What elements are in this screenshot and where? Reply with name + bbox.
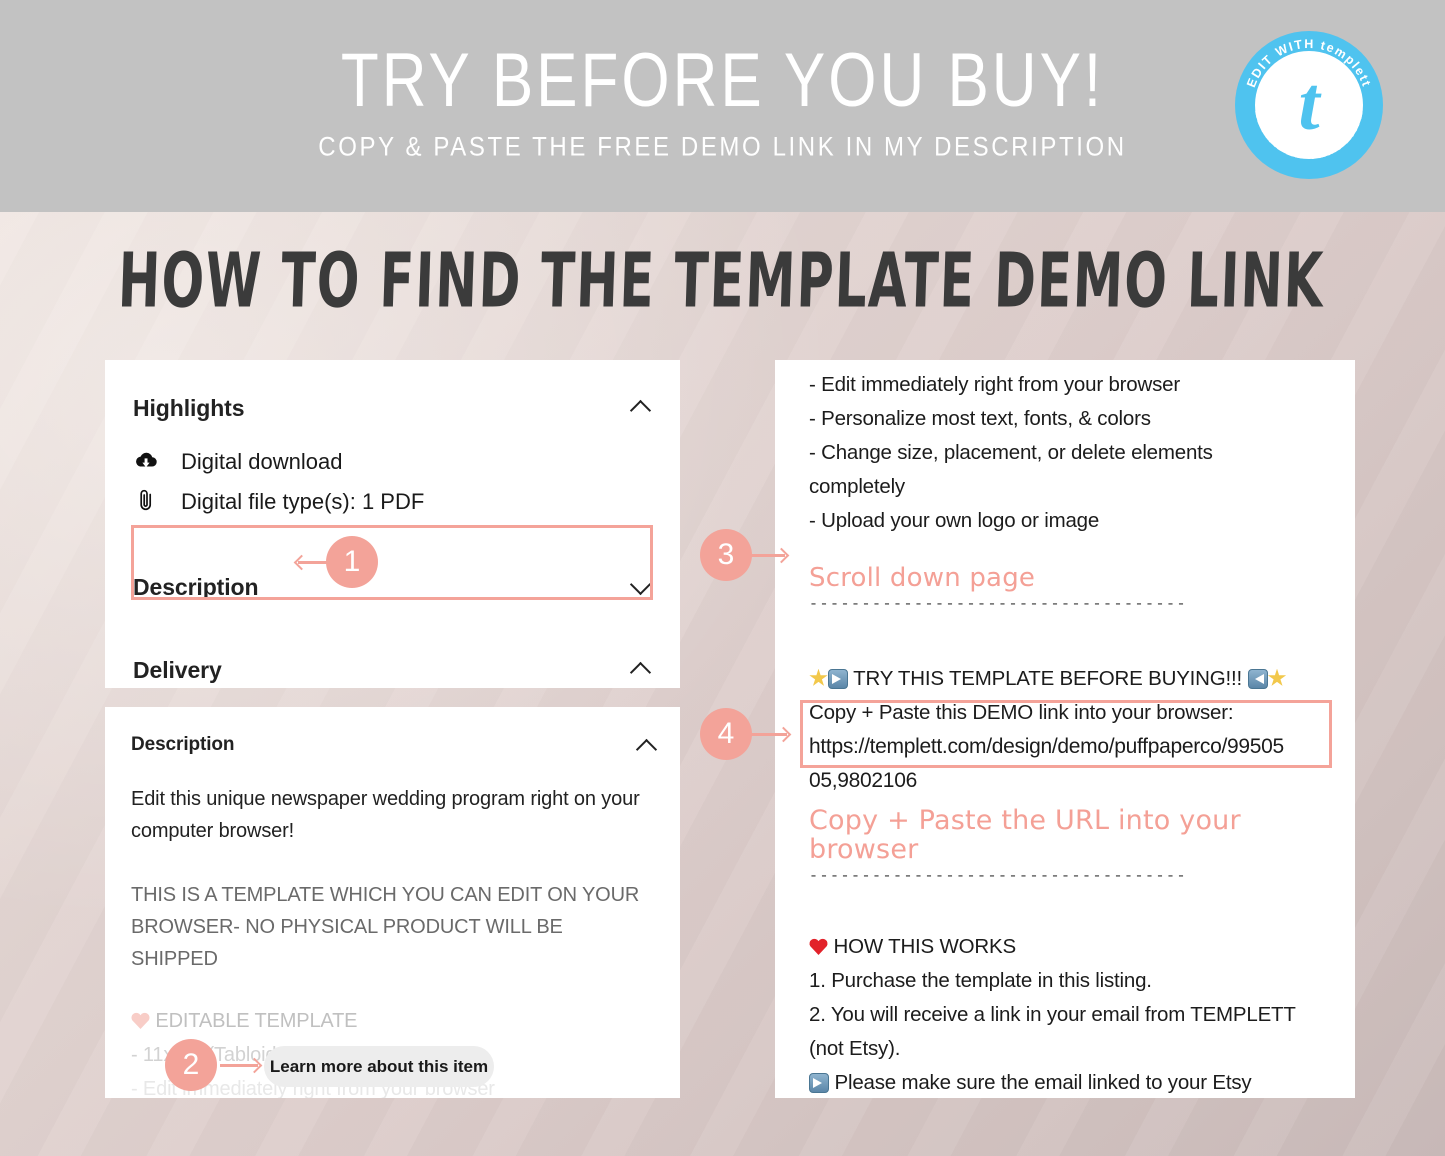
how-step: 1. Purchase the template in this listing… [809, 964, 1333, 998]
scroll-down-note: Scroll down page [809, 564, 1333, 593]
highlights-heading-row[interactable]: Highlights [133, 382, 652, 434]
description-card-heading: Description [131, 734, 234, 756]
cloud-download-icon [133, 450, 159, 474]
step-marker-3: 3 [700, 529, 752, 581]
description-card-heading-row[interactable]: Description [131, 723, 654, 767]
how-this-works-heading-text: HOW THIS WORKS [834, 935, 1016, 958]
copy-paste-instruction: Copy + Paste this DEMO link into your br… [809, 696, 1333, 730]
banner-subtitle: COPY & PASTE THE FREE DEMO LINK IN MY DE… [0, 134, 1445, 161]
divider-dashed-2: ------------------------------------ [809, 869, 1333, 884]
step-arrow-1 [288, 553, 336, 571]
highlights-card: Highlights Digital download [105, 360, 680, 688]
feature-bullet: - Personalize most text, fonts, & colors [809, 402, 1333, 436]
highlights-heading: Highlights [133, 395, 244, 422]
list-item-label: Digital file type(s): 1 PDF [181, 489, 424, 515]
chevron-up-icon[interactable] [630, 659, 652, 681]
arrow-right-icon [809, 1073, 829, 1093]
step-arrow-2 [220, 1056, 268, 1074]
demo-url-line-2[interactable]: 05,9802106 [809, 764, 1333, 798]
top-banner: TRY BEFORE YOU BUY! COPY & PASTE THE FRE… [0, 0, 1445, 212]
list-item: Digital download [133, 442, 652, 482]
poster-canvas: TRY BEFORE YOU BUY! COPY & PASTE THE FRE… [0, 0, 1445, 1156]
chevron-down-icon[interactable] [630, 576, 652, 598]
banner-title: TRY BEFORE YOU BUY! [0, 44, 1445, 120]
step-arrow-3 [747, 546, 795, 564]
star-icon [1268, 669, 1287, 688]
how-step-text: Please make sure the email linked to you… [835, 1071, 1252, 1094]
badge-bottom-label: EDITABLE TEMPLATE [1252, 108, 1366, 162]
badge-arc-text: EDIT WITH templett EDITABLE TEMPLATE [1235, 31, 1383, 179]
divider-dashed-1: ------------------------------------ [809, 597, 1333, 612]
listing-description-panel: - Edit immediately right from your brows… [775, 360, 1355, 1098]
list-item: Digital file type(s): 1 PDF [133, 482, 652, 522]
how-step: 2. You will receive a link in your email… [809, 998, 1333, 1032]
chevron-up-icon[interactable] [630, 397, 652, 419]
star-icon [809, 669, 828, 688]
heart-icon [131, 1011, 150, 1030]
templett-badge: t EDIT WITH templett EDITABLE TEMPLATE [1235, 31, 1383, 179]
description-paragraph-1: Edit this unique newspaper wedding progr… [131, 783, 654, 847]
chevron-up-icon[interactable] [636, 736, 654, 754]
highlights-list: Digital download Digital file type(s): 1… [133, 442, 652, 522]
delivery-accordion-label: Delivery [133, 657, 222, 684]
page-title: HOW TO FIND THE TEMPLATE DEMO LINK [26, 243, 1416, 318]
feature-bullet: completely [809, 470, 1333, 504]
how-step: Please make sure the email linked to you… [809, 1066, 1333, 1098]
description-paragraph-2: THIS IS A TEMPLATE WHICH YOU CAN EDIT ON… [131, 879, 654, 975]
badge-top-label: EDIT WITH templett [1244, 37, 1374, 89]
arrow-right-icon [828, 669, 848, 689]
feature-bullet: - Upload your own logo or image [809, 504, 1333, 538]
learn-more-button[interactable]: Learn more about this item [264, 1046, 494, 1087]
feature-bullet: - Change size, placement, or delete elem… [809, 436, 1333, 470]
arrow-left-icon [1248, 669, 1268, 689]
description-paragraph-3-text: EDITABLE TEMPLATE [155, 1010, 357, 1032]
how-this-works-heading: HOW THIS WORKS [809, 930, 1333, 964]
step-arrow-4 [747, 725, 797, 743]
list-item-label: Digital download [181, 449, 342, 475]
demo-url-line-1[interactable]: https://templett.com/design/demo/puffpap… [809, 730, 1333, 764]
description-accordion-label: Description [133, 574, 258, 601]
description-paragraph-3: EDITABLE TEMPLATE [131, 1005, 654, 1037]
try-template-line: TRY THIS TEMPLATE BEFORE BUYING!!! [809, 662, 1333, 696]
description-accordion-row[interactable]: Description [133, 554, 652, 620]
how-step: (not Etsy). [809, 1032, 1333, 1066]
step-marker-2: 2 [165, 1039, 217, 1091]
try-template-text: TRY THIS TEMPLATE BEFORE BUYING!!! [853, 667, 1242, 690]
step-marker-4: 4 [700, 708, 752, 760]
delivery-accordion-row[interactable]: Delivery [133, 644, 652, 696]
heart-icon [809, 937, 828, 956]
feature-bullet: - Edit immediately right from your brows… [809, 368, 1333, 402]
url-copy-note: Copy + Paste the URL into your browser [809, 806, 1333, 865]
paperclip-icon [133, 488, 159, 516]
